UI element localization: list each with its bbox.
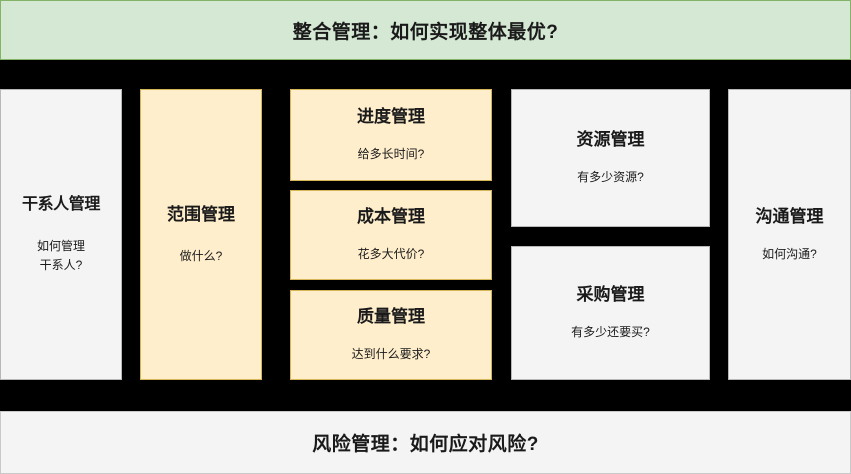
integration-management-label: 整合管理：如何实现整体最优?: [293, 17, 559, 44]
card-resource-title: 资源管理: [577, 129, 645, 150]
card-stakeholder-title: 干系人管理: [22, 195, 100, 215]
card-cost-management: 成本管理 花多大代价?: [290, 190, 492, 280]
card-quality-subtitle: 达到什么要求?: [352, 345, 431, 364]
card-scope-management: 范围管理 做什么?: [140, 89, 262, 380]
card-communication-management: 沟通管理 如何沟通?: [728, 89, 851, 380]
card-schedule-subtitle: 给多长时间?: [358, 145, 425, 164]
card-schedule-management: 进度管理 给多长时间?: [290, 89, 492, 181]
card-stakeholder-subtitle: 如何管理 干系人?: [37, 237, 85, 274]
card-procurement-subtitle: 有多少还要买?: [571, 323, 650, 342]
card-stakeholder-subtitle-line2: 干系人?: [37, 256, 85, 275]
card-resource-subtitle: 有多少资源?: [577, 168, 644, 187]
card-schedule-title: 进度管理: [357, 106, 425, 127]
risk-management-band: 风险管理：如何应对风险?: [0, 411, 851, 474]
risk-management-label: 风险管理：如何应对风险?: [312, 429, 539, 456]
card-quality-management: 质量管理 达到什么要求?: [290, 290, 492, 380]
card-communication-subtitle: 如何沟通?: [762, 245, 817, 264]
card-scope-subtitle: 做什么?: [180, 247, 223, 266]
card-communication-title: 沟通管理: [756, 206, 824, 227]
card-quality-title: 质量管理: [357, 306, 425, 327]
card-stakeholder-management: 干系人管理 如何管理 干系人?: [0, 89, 122, 380]
card-cost-subtitle: 花多大代价?: [358, 245, 425, 264]
card-procurement-title: 采购管理: [577, 284, 645, 305]
diagram-canvas: 整合管理：如何实现整体最优? 干系人管理 如何管理 干系人? 范围管理 做什么?…: [0, 0, 851, 474]
card-procurement-management: 采购管理 有多少还要买?: [511, 246, 710, 380]
integration-management-band: 整合管理：如何实现整体最优?: [0, 0, 851, 60]
card-scope-title: 范围管理: [167, 204, 235, 225]
card-cost-title: 成本管理: [357, 206, 425, 227]
card-stakeholder-subtitle-line1: 如何管理: [37, 237, 85, 256]
card-resource-management: 资源管理 有多少资源?: [511, 89, 710, 227]
